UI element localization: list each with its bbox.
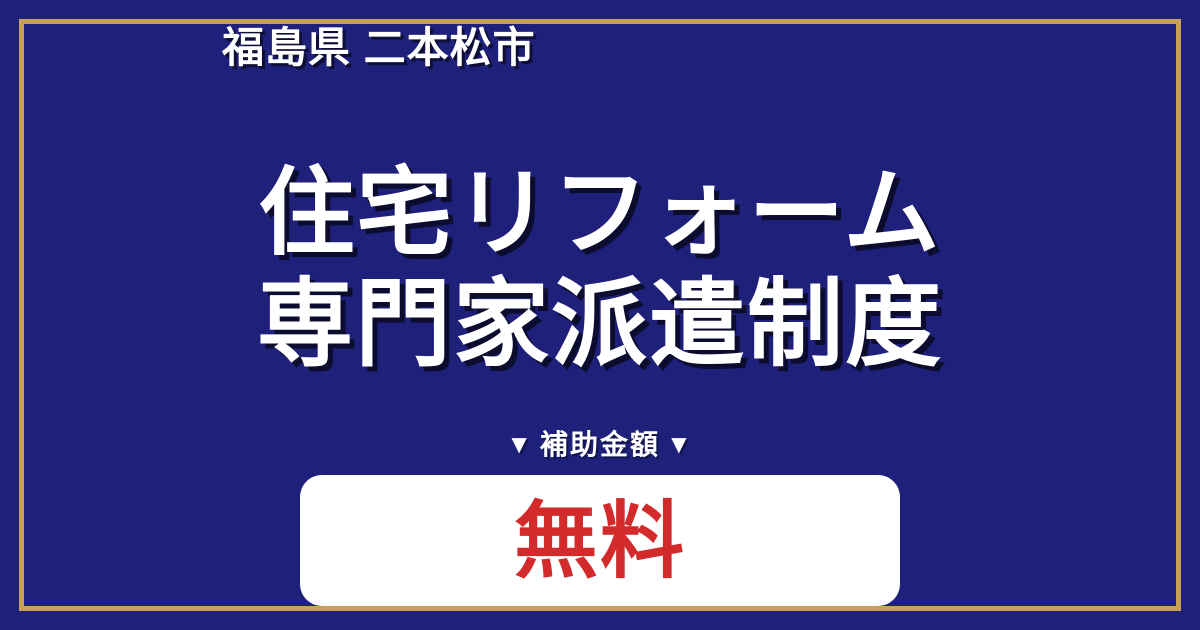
triangle-down-right-icon: ▼ xyxy=(666,429,694,460)
subsidy-label-text: 補助金額 xyxy=(540,429,660,460)
subsidy-amount-card: 無料 xyxy=(300,475,900,606)
promo-banner: 福島県 二本松市 住宅リフォーム 専門家派遣制度 ▼補助金額▼ 無料 xyxy=(0,0,1200,630)
subsidy-amount-value: 無料 xyxy=(514,499,686,583)
subsidy-amount-label: ▼補助金額▼ xyxy=(0,428,1200,462)
triangle-down-left-icon: ▼ xyxy=(506,429,534,460)
headline-line-1: 住宅リフォーム xyxy=(0,158,1200,269)
headline-block: 住宅リフォーム 専門家派遣制度 xyxy=(0,158,1200,381)
municipality-name: 福島県 二本松市 xyxy=(222,24,536,72)
headline-line-2: 専門家派遣制度 xyxy=(0,269,1200,380)
